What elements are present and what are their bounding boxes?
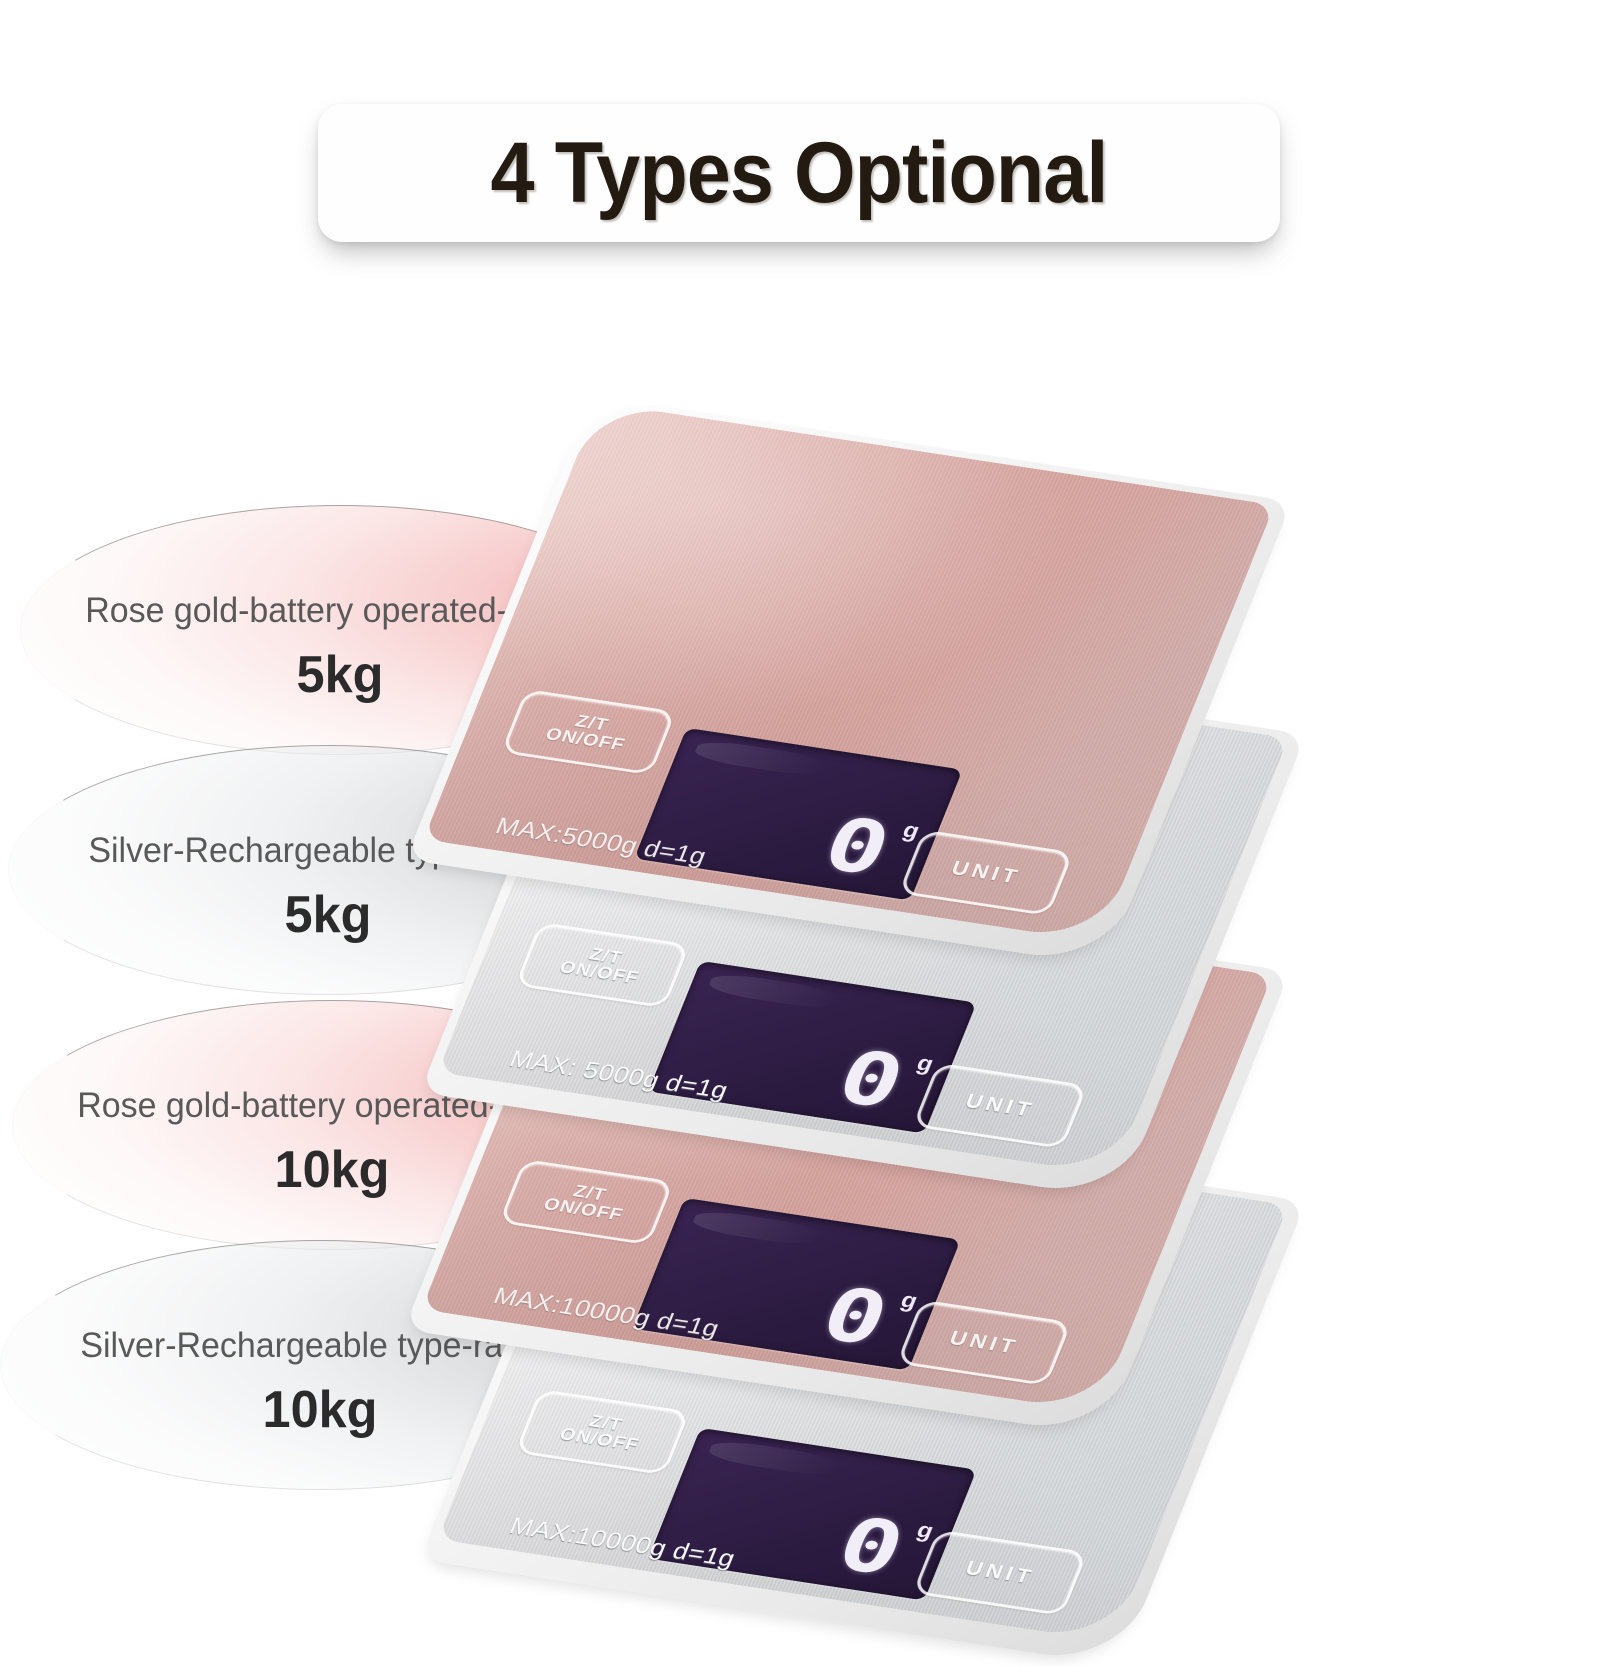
lcd-weight-value: 0	[811, 1278, 900, 1358]
title-card: 4 Types Optional	[318, 104, 1280, 242]
lcd-glare	[690, 1208, 825, 1248]
lcd-weight-value: 0	[813, 808, 902, 888]
product-scale-rose-gold-5kg[interactable]: Z/T ON/OFF 0 g UNIT MAX:5000g d=1g	[592, 395, 1292, 935]
unit-button[interactable]: UNIT	[912, 1530, 1088, 1616]
lcd-glare	[692, 738, 827, 778]
unit-button[interactable]: UNIT	[912, 1063, 1088, 1149]
unit-button[interactable]: UNIT	[898, 830, 1074, 916]
page-title: 4 Types Optional	[356, 104, 1241, 242]
unit-button[interactable]: UNIT	[896, 1300, 1072, 1386]
lcd-weight-value: 0	[827, 1508, 916, 1588]
lcd-glare	[706, 971, 841, 1011]
lcd-weight-value: 0	[827, 1041, 916, 1121]
lcd-glare	[706, 1438, 841, 1478]
power-tare-button[interactable]: Z/T ON/OFF	[501, 689, 677, 775]
power-tare-button[interactable]: Z/T ON/OFF	[499, 1159, 675, 1245]
